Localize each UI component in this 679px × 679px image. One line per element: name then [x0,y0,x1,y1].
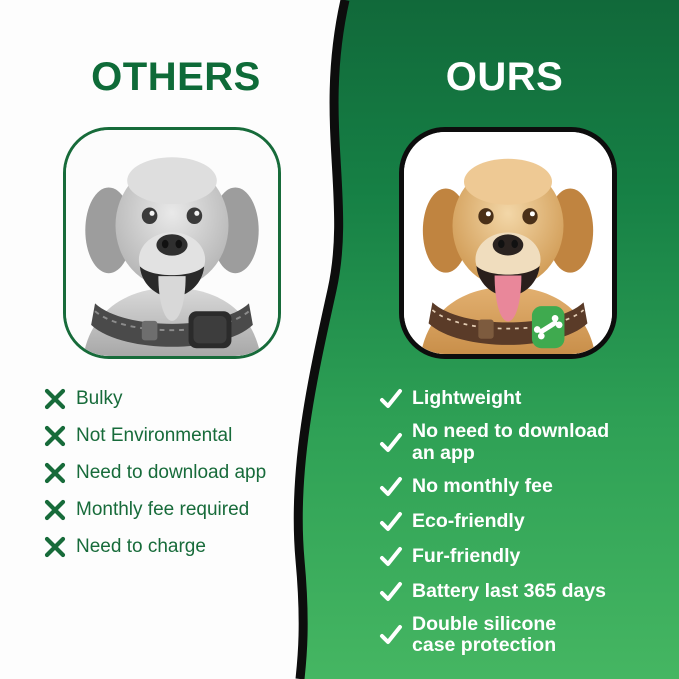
list-item-label: Monthly fee required [76,500,249,521]
list-item-label: No monthly fee [412,476,553,498]
comparison-infographic: OTHERS OURS [0,0,679,679]
list-item-label: Need to download app [76,463,266,484]
check-icon [378,386,404,412]
list-item-label: No need to download an app [412,421,609,465]
list-item: Fur-friendly [378,544,658,570]
list-item-label: Double silicone case protection [412,614,556,658]
x-icon [42,386,68,412]
check-icon [378,509,404,535]
check-icon [378,579,404,605]
ours-feature-list: Lightweight No need to download an app N… [378,386,658,666]
list-item-label: Need to charge [76,537,206,558]
x-icon [42,423,68,449]
photo-ours [399,127,617,359]
list-item: Eco-friendly [378,509,658,535]
check-icon [378,622,404,648]
check-icon [378,430,404,456]
list-item: Bulky [42,386,332,412]
list-item-label: Not Environmental [76,426,232,447]
others-feature-list: Bulky Not Environmental Need to download… [42,386,332,571]
list-item-label: Lightweight [412,388,521,410]
check-icon [378,544,404,570]
x-icon [42,534,68,560]
page-title-others: OTHERS [0,55,352,100]
list-item: Lightweight [378,386,658,412]
list-item: Battery last 365 days [378,579,658,605]
photo-others [63,127,281,359]
check-icon [378,474,404,500]
list-item-label: Fur-friendly [412,546,520,568]
page-title-ours: OURS [330,55,679,100]
list-item: Need to download app [42,460,332,486]
list-item-label: Bulky [76,389,122,410]
list-item-label: Eco-friendly [412,511,525,533]
list-item: Need to charge [42,534,332,560]
list-item-label: Battery last 365 days [412,581,606,603]
list-item: Double silicone case protection [378,614,658,658]
x-icon [42,497,68,523]
list-item: Monthly fee required [42,497,332,523]
list-item: Not Environmental [42,423,332,449]
list-item: No monthly fee [378,474,658,500]
list-item: No need to download an app [378,421,658,465]
x-icon [42,460,68,486]
